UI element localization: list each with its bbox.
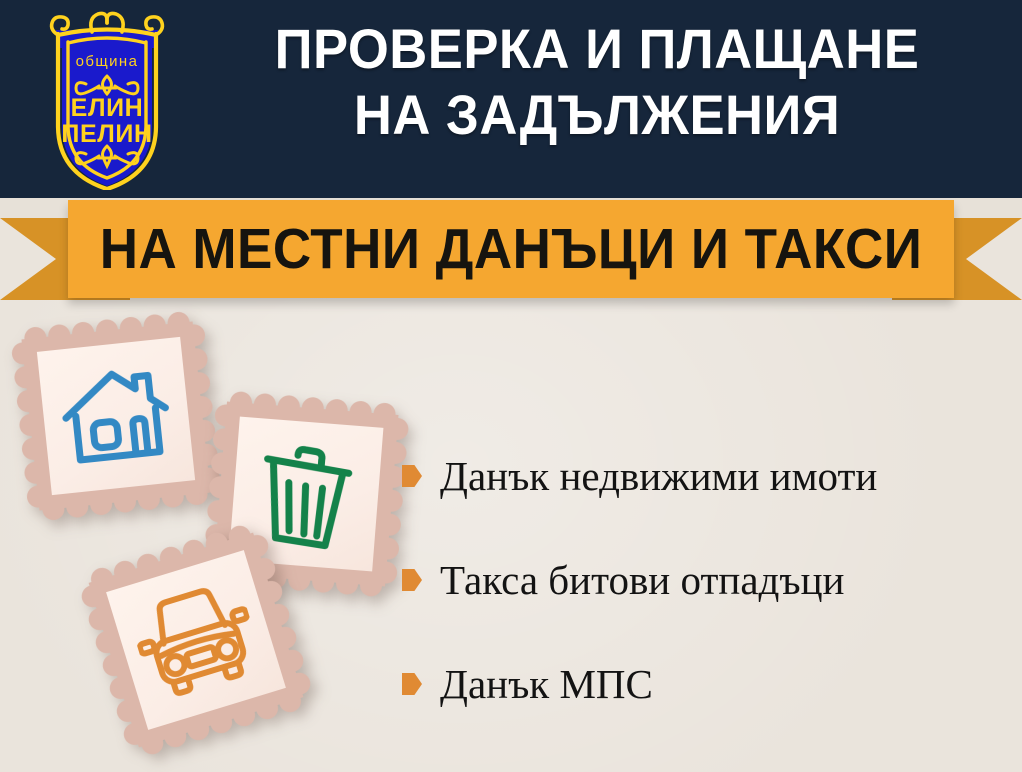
list-item[interactable]: Данък МПС	[402, 632, 1014, 736]
page-title-line-1: ПРОВЕРКА И ПЛАЩАНЕ	[207, 16, 987, 82]
list-item-label: Данък недвижими имоти	[440, 456, 877, 497]
bullet-arrow-icon	[402, 673, 422, 695]
house-icon	[37, 337, 195, 495]
list-item[interactable]: Данък недвижими имоти	[402, 424, 1014, 528]
coat-of-arms-icon: община ЕЛИН ПЕЛИН	[42, 8, 172, 190]
tax-type-list: Данък недвижими имоти Такса битови отпад…	[402, 424, 1014, 736]
page-title: ПРОВЕРКА И ПЛАЩАНЕ НА ЗАДЪЛЖЕНИЯ	[207, 16, 987, 148]
ribbon-label: НА МЕСТНИ ДАНЪЦИ И ТАКСИ	[99, 200, 923, 298]
ribbon-banner: НА МЕСТНИ ДАНЪЦИ И ТАКСИ	[0, 198, 1022, 304]
logo-main-text-line-2: ПЕЛИН	[61, 120, 152, 148]
stamp-card-house	[8, 308, 223, 523]
bullet-arrow-icon	[402, 465, 422, 487]
list-item-label: Данък МПС	[440, 664, 653, 705]
municipality-logo: община ЕЛИН ПЕЛИН	[42, 8, 172, 190]
bullet-arrow-icon	[402, 569, 422, 591]
list-item-label: Такса битови отпадъци	[440, 560, 844, 601]
logo-top-text: община	[76, 53, 139, 70]
logo-main-text-line-1: ЕЛИН	[71, 94, 144, 122]
poster-canvas: ПРОВЕРКА И ПЛАЩАНЕ НА ЗАДЪЛЖЕНИЯ	[0, 0, 1022, 772]
page-title-line-2: НА ЗАДЪЛЖЕНИЯ	[207, 82, 987, 148]
list-item[interactable]: Такса битови отпадъци	[402, 528, 1014, 632]
